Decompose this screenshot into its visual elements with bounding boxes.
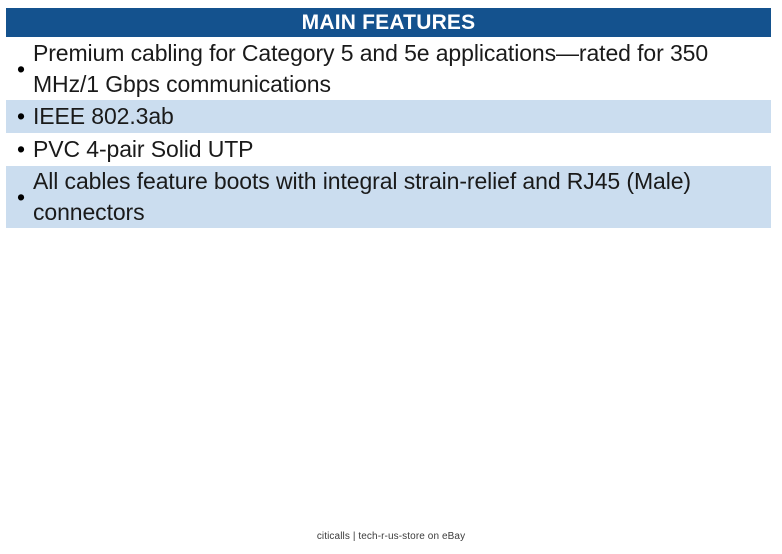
list-item: • All cables feature boots with integral… (6, 166, 771, 228)
list-item: • PVC 4-pair Solid UTP (6, 133, 771, 166)
bullet-icon: • (11, 186, 33, 209)
bullet-icon: • (11, 58, 33, 81)
list-item: • IEEE 802.3ab (6, 100, 771, 133)
list-item-label: PVC 4-pair Solid UTP (33, 134, 771, 165)
page-title: MAIN FEATURES (302, 12, 476, 33)
bullet-icon: • (11, 105, 33, 128)
main-features-header: MAIN FEATURES (6, 8, 771, 37)
list-item-label: IEEE 802.3ab (33, 101, 771, 132)
list-item-label: All cables feature boots with integral s… (33, 166, 771, 228)
slide-canvas: MAIN FEATURES • Premium cabling for Cate… (0, 0, 782, 554)
list-item: • Premium cabling for Category 5 and 5e … (6, 38, 771, 100)
footer-attribution: citicalls | tech-r-us-store on eBay (0, 531, 782, 542)
list-item-label: Premium cabling for Category 5 and 5e ap… (33, 38, 771, 100)
feature-list: • Premium cabling for Category 5 and 5e … (6, 38, 771, 228)
bullet-icon: • (11, 138, 33, 161)
